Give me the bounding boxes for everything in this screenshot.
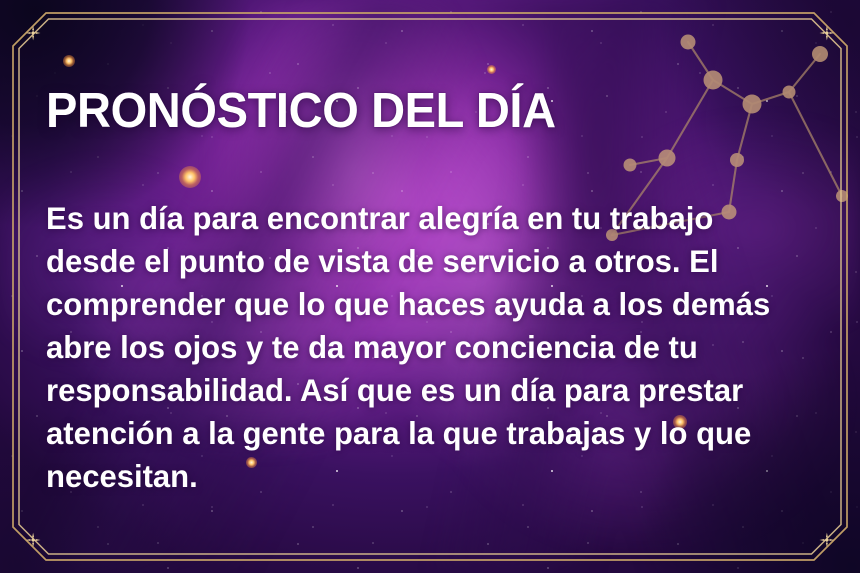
glow-star-icon — [63, 55, 75, 67]
page-title: PRONÓSTICO DEL DÍA — [46, 86, 804, 137]
text-container: PRONÓSTICO DEL DÍA Es un día para encont… — [46, 86, 836, 498]
constellation-node — [812, 46, 828, 62]
forecast-body-text: Es un día para encontrar alegría en tu t… — [46, 137, 795, 498]
sparkle-icon-top-left — [26, 26, 41, 41]
constellation-line — [688, 42, 713, 80]
constellation-node — [836, 190, 848, 202]
glow-star-icon — [487, 65, 496, 74]
sparkle-icon-bottom-right — [820, 533, 835, 548]
sparkle-icon-bottom-left — [26, 533, 41, 548]
constellation-node — [681, 35, 696, 50]
horoscope-card: PRONÓSTICO DEL DÍA Es un día para encont… — [0, 0, 860, 573]
sparkle-icon-top-right — [820, 26, 835, 41]
